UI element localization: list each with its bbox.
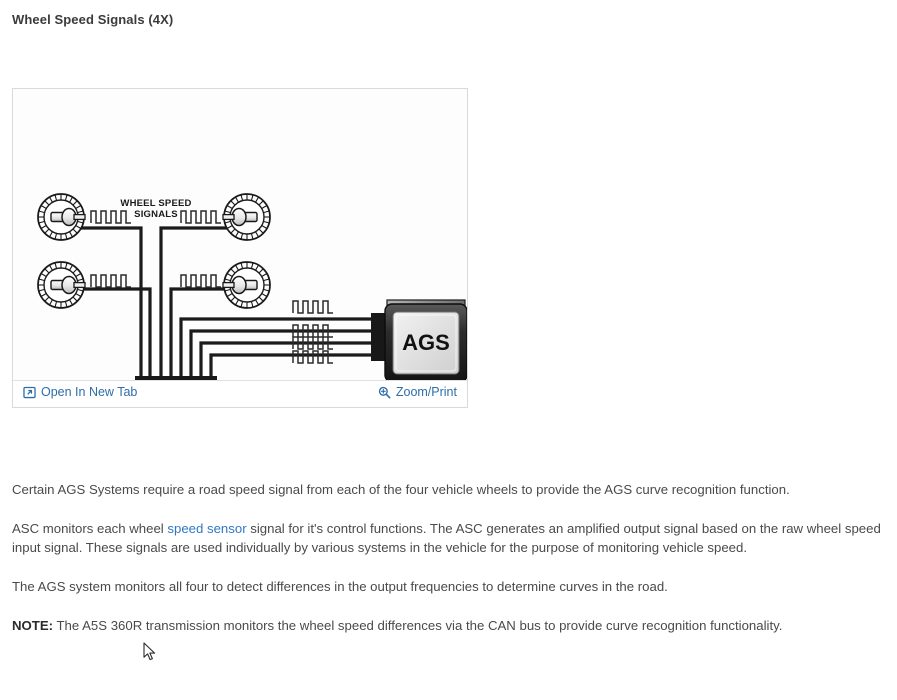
wheel-speed-signals-diagram[interactable]: WHEEL SPEED SIGNALS AGS — [13, 89, 467, 382]
mouse-cursor — [143, 642, 156, 661]
wheel-sensor-rear-right — [223, 262, 270, 308]
open-in-new-tab-button[interactable]: Open In New Tab — [23, 386, 137, 399]
paragraph-2-before-link: ASC monitors each wheel — [12, 521, 167, 536]
open-in-new-tab-icon — [23, 386, 36, 399]
module-ags: AGS — [371, 300, 467, 382]
module-ags-label: AGS — [402, 330, 450, 355]
note-text: The A5S 360R transmission monitors the w… — [53, 618, 782, 633]
zoom-print-label: Zoom/Print — [396, 386, 457, 399]
paragraph-1: Certain AGS Systems require a road speed… — [12, 480, 890, 499]
paragraph-2: ASC monitors each wheel speed sensor sig… — [12, 519, 890, 557]
speed-sensor-link[interactable]: speed sensor — [167, 521, 246, 536]
page-title: Wheel Speed Signals (4X) — [12, 12, 173, 27]
figure-card: WHEEL SPEED SIGNALS AGS — [12, 88, 468, 408]
zoom-print-button[interactable]: Zoom/Print — [378, 386, 457, 399]
page-root: Wheel Speed Signals (4X) — [0, 0, 897, 700]
paragraph-3: The AGS system monitors all four to dete… — [12, 577, 890, 596]
wheel-sensor-front-left — [38, 194, 85, 240]
diagram-caption-line-1: WHEEL SPEED — [120, 198, 191, 209]
note-label: NOTE: — [12, 618, 53, 633]
magnifier-plus-icon — [378, 386, 391, 399]
figure-toolbar: Open In New Tab Zoom/Print — [13, 380, 467, 407]
wheel-sensor-rear-left — [38, 262, 85, 308]
article-body: Certain AGS Systems require a road speed… — [12, 480, 890, 635]
wheel-sensor-front-right — [223, 194, 270, 240]
open-in-new-tab-label: Open In New Tab — [41, 386, 137, 399]
note-paragraph: NOTE: The A5S 360R transmission monitors… — [12, 616, 890, 635]
diagram-caption-line-2: SIGNALS — [134, 209, 178, 220]
